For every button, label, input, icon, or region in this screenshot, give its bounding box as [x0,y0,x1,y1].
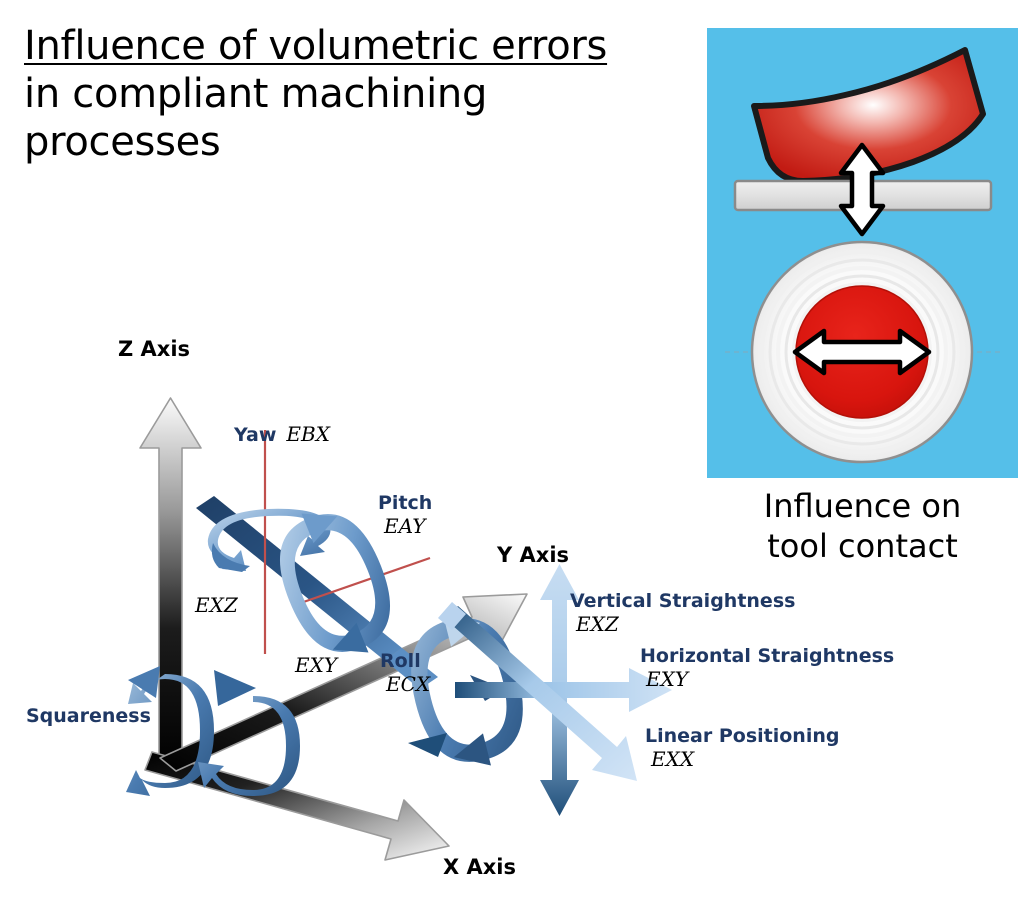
title-line-3: processes [24,118,684,166]
roll-name: Roll [380,650,430,672]
yaw-code: EBX [286,422,330,446]
x-axis-arrow [145,752,449,860]
vertical-straightness-code: EXZ [576,612,795,636]
x-axis-label: X Axis [443,855,516,879]
yaw-name: Yaw [234,424,276,446]
yaw-label: YawEBX [234,422,330,446]
squareness-code-exz: EXZ [195,593,238,617]
y-axis-label: Y Axis [496,543,569,567]
vertical-straightness-name: Vertical Straightness [570,590,795,612]
horizontal-straightness-label: Horizontal Straightness EXY [640,645,894,691]
horizontal-straightness-name: Horizontal Straightness [640,645,894,667]
pitch-name: Pitch [378,492,432,514]
roll-arrow-head-left [408,733,447,757]
linear-positioning-label: Linear Positioning EXX [645,725,839,771]
volumetric-error-diagram: Z Axis Y Axis X Axis YawEBX Pitch EAY Ro… [0,300,1029,895]
roll-code: ECX [386,672,430,696]
squareness-code-exy: EXY [295,653,337,677]
horizontal-straightness-code: EXY [646,667,894,691]
title-line-2: in compliant machining [24,70,684,118]
roll-label: Roll ECX [380,650,430,696]
vertical-straightness-label: Vertical Straightness EXZ [570,590,795,636]
pitch-code: EAY [384,514,432,538]
z-axis-label: Z Axis [118,337,190,361]
linear-positioning-code: EXX [651,747,839,771]
page-title: Influence of volumetric errors in compli… [24,22,684,166]
pitch-label: Pitch EAY [378,492,432,538]
squareness-label: Squareness [26,705,151,727]
title-line-1: Influence of volumetric errors [24,22,684,70]
linear-positioning-name: Linear Positioning [645,725,839,747]
